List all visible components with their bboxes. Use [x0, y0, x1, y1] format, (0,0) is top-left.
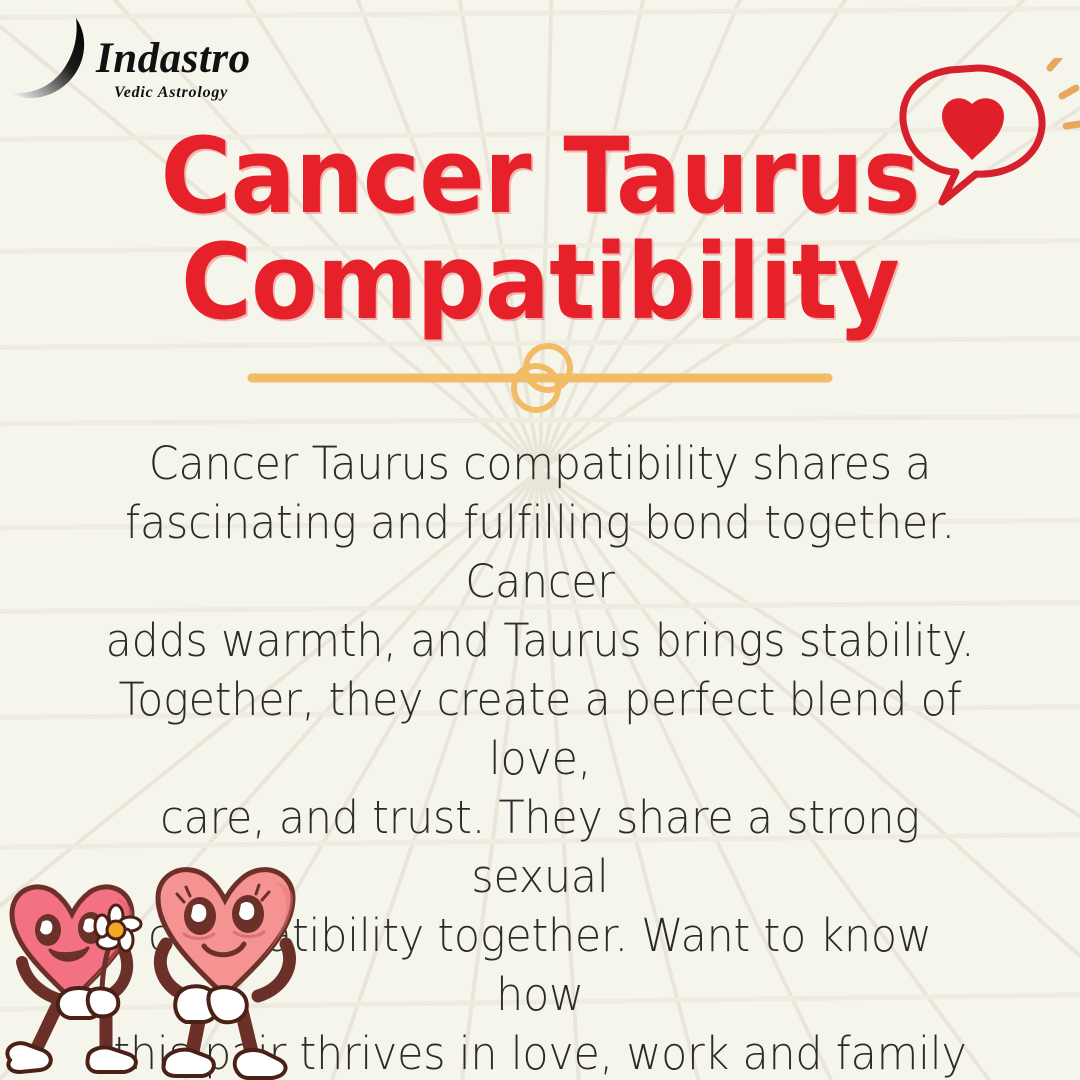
body-line: adds warmth, and Taurus brings stability…	[103, 611, 977, 670]
speech-bubble-heart-icon	[890, 58, 1080, 218]
body-line: Together, they create a perfect blend of…	[103, 670, 977, 788]
interlocking-rings-icon	[0, 338, 1080, 418]
heart-character-with-flower	[7, 887, 141, 1072]
title-line-2: Compatibility	[38, 232, 1042, 334]
heart-characters-illustration	[0, 854, 326, 1080]
body-line: Cancer Taurus compatibility shares a	[103, 434, 977, 493]
body-line: fascinating and fulfilling bond together…	[103, 493, 977, 611]
logo-wordmark: Indastro	[96, 34, 251, 83]
logo-tagline: Vedic Astrology	[114, 84, 228, 102]
brand-logo[interactable]: Indastro Vedic Astrology	[6, 12, 306, 112]
poster-canvas: Indastro Vedic Astrology Cancer Taurus C…	[0, 0, 1080, 1080]
crescent-moon-icon	[6, 12, 102, 108]
heart-character-smiling	[158, 870, 293, 1078]
